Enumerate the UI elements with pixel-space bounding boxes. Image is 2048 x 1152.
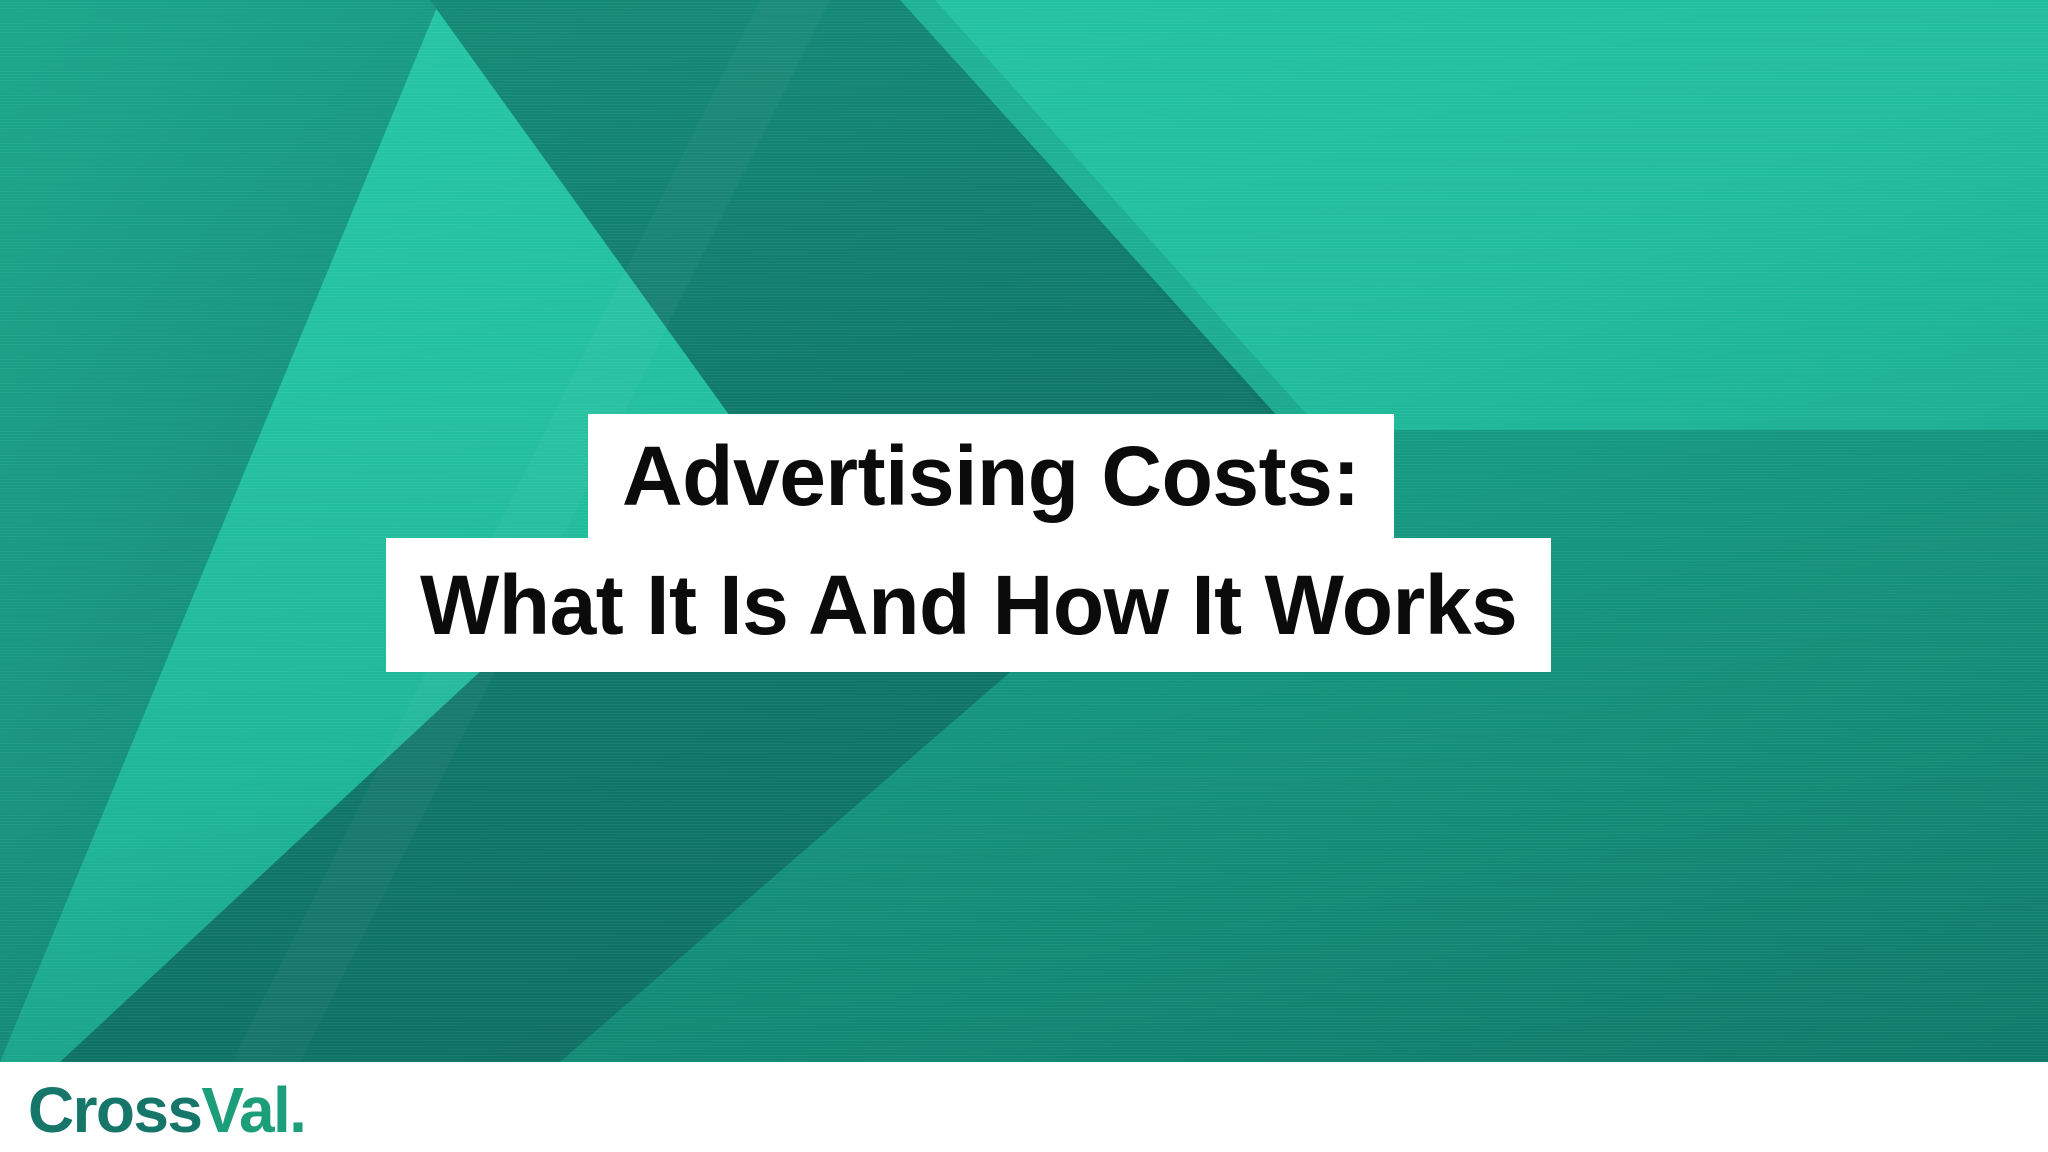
hero-artwork: Advertising Costs: What It Is And How It… bbox=[0, 0, 2048, 1062]
brand-logo[interactable]: CrossVal. bbox=[28, 1078, 305, 1142]
brand-logo-primary: Cross bbox=[28, 1074, 201, 1146]
title-slide: Advertising Costs: What It Is And How It… bbox=[0, 0, 2048, 1152]
title-line-1: Advertising Costs: bbox=[588, 414, 1394, 538]
footer-bar bbox=[0, 1062, 2048, 1152]
brand-logo-dot: . bbox=[289, 1074, 305, 1146]
brand-logo-secondary: Val bbox=[201, 1074, 289, 1146]
title-line-2: What It Is And How It Works bbox=[386, 538, 1551, 672]
